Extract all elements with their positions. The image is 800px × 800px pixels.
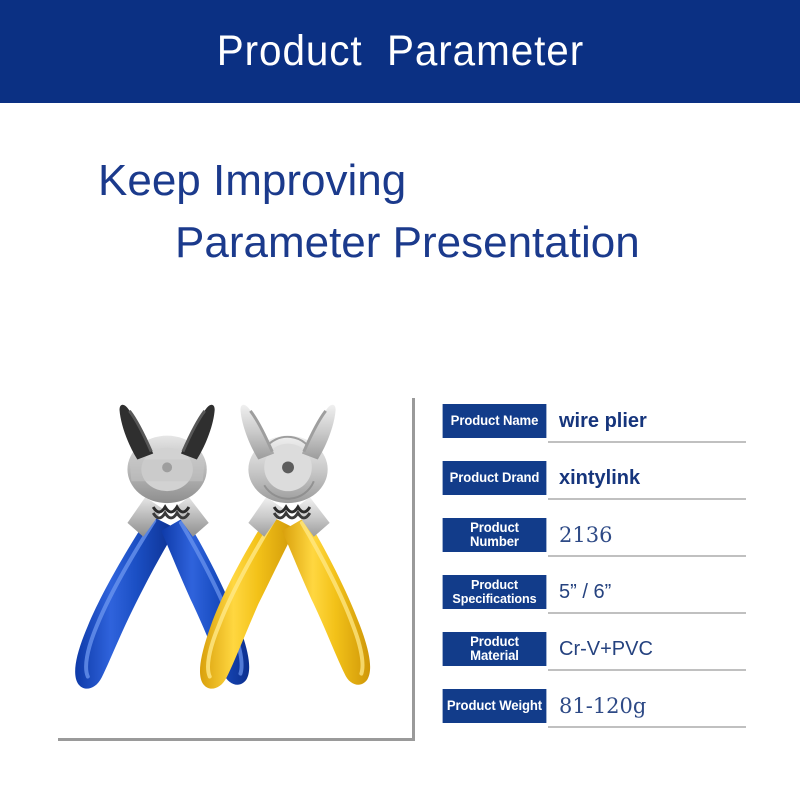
table-row: Product Name wire plier — [441, 404, 746, 461]
headline-line-1: Keep Improving — [98, 150, 800, 212]
spec-label-product-name: Product Name — [443, 404, 547, 438]
product-spec-table: Product Name wire plier Product Drand xi… — [441, 404, 746, 746]
spec-value-product-drand: xintylink — [559, 461, 640, 495]
row-underline — [548, 555, 746, 557]
spec-label-product-drand: Product Drand — [443, 461, 547, 495]
spec-value-product-name: wire plier — [559, 404, 647, 438]
row-underline — [548, 726, 746, 728]
row-underline — [548, 669, 746, 671]
row-underline — [548, 441, 746, 443]
table-row: Product Material Cr-V+PVC — [441, 632, 746, 689]
wire-pliers-image — [58, 398, 412, 738]
row-underline — [548, 498, 746, 500]
spec-label-product-number: Product Number — [443, 518, 547, 552]
headline-block: Keep Improving Parameter Presentation — [0, 150, 800, 274]
row-underline — [548, 612, 746, 614]
spec-label-product-weight: Product Weight — [443, 689, 547, 723]
table-row: Product Weight 81-120g — [441, 689, 746, 746]
table-row: Product Specifications 5” / 6” — [441, 575, 746, 632]
spec-label-product-material: Product Material — [443, 632, 547, 666]
page-header-banner: Product Parameter — [0, 0, 800, 103]
spec-label-product-specifications: Product Specifications — [443, 575, 547, 609]
spec-value-product-number: 2136 — [559, 518, 612, 552]
headline-line-2: Parameter Presentation — [175, 212, 800, 274]
table-row: Product Number 2136 — [441, 518, 746, 575]
table-row: Product Drand xintylink — [441, 461, 746, 518]
spec-value-product-specifications: 5” / 6” — [559, 575, 611, 609]
page-title: Product Parameter — [216, 27, 583, 76]
spec-value-product-material: Cr-V+PVC — [559, 632, 653, 666]
spec-value-product-weight: 81-120g — [559, 689, 646, 723]
product-photo-frame — [58, 398, 415, 741]
